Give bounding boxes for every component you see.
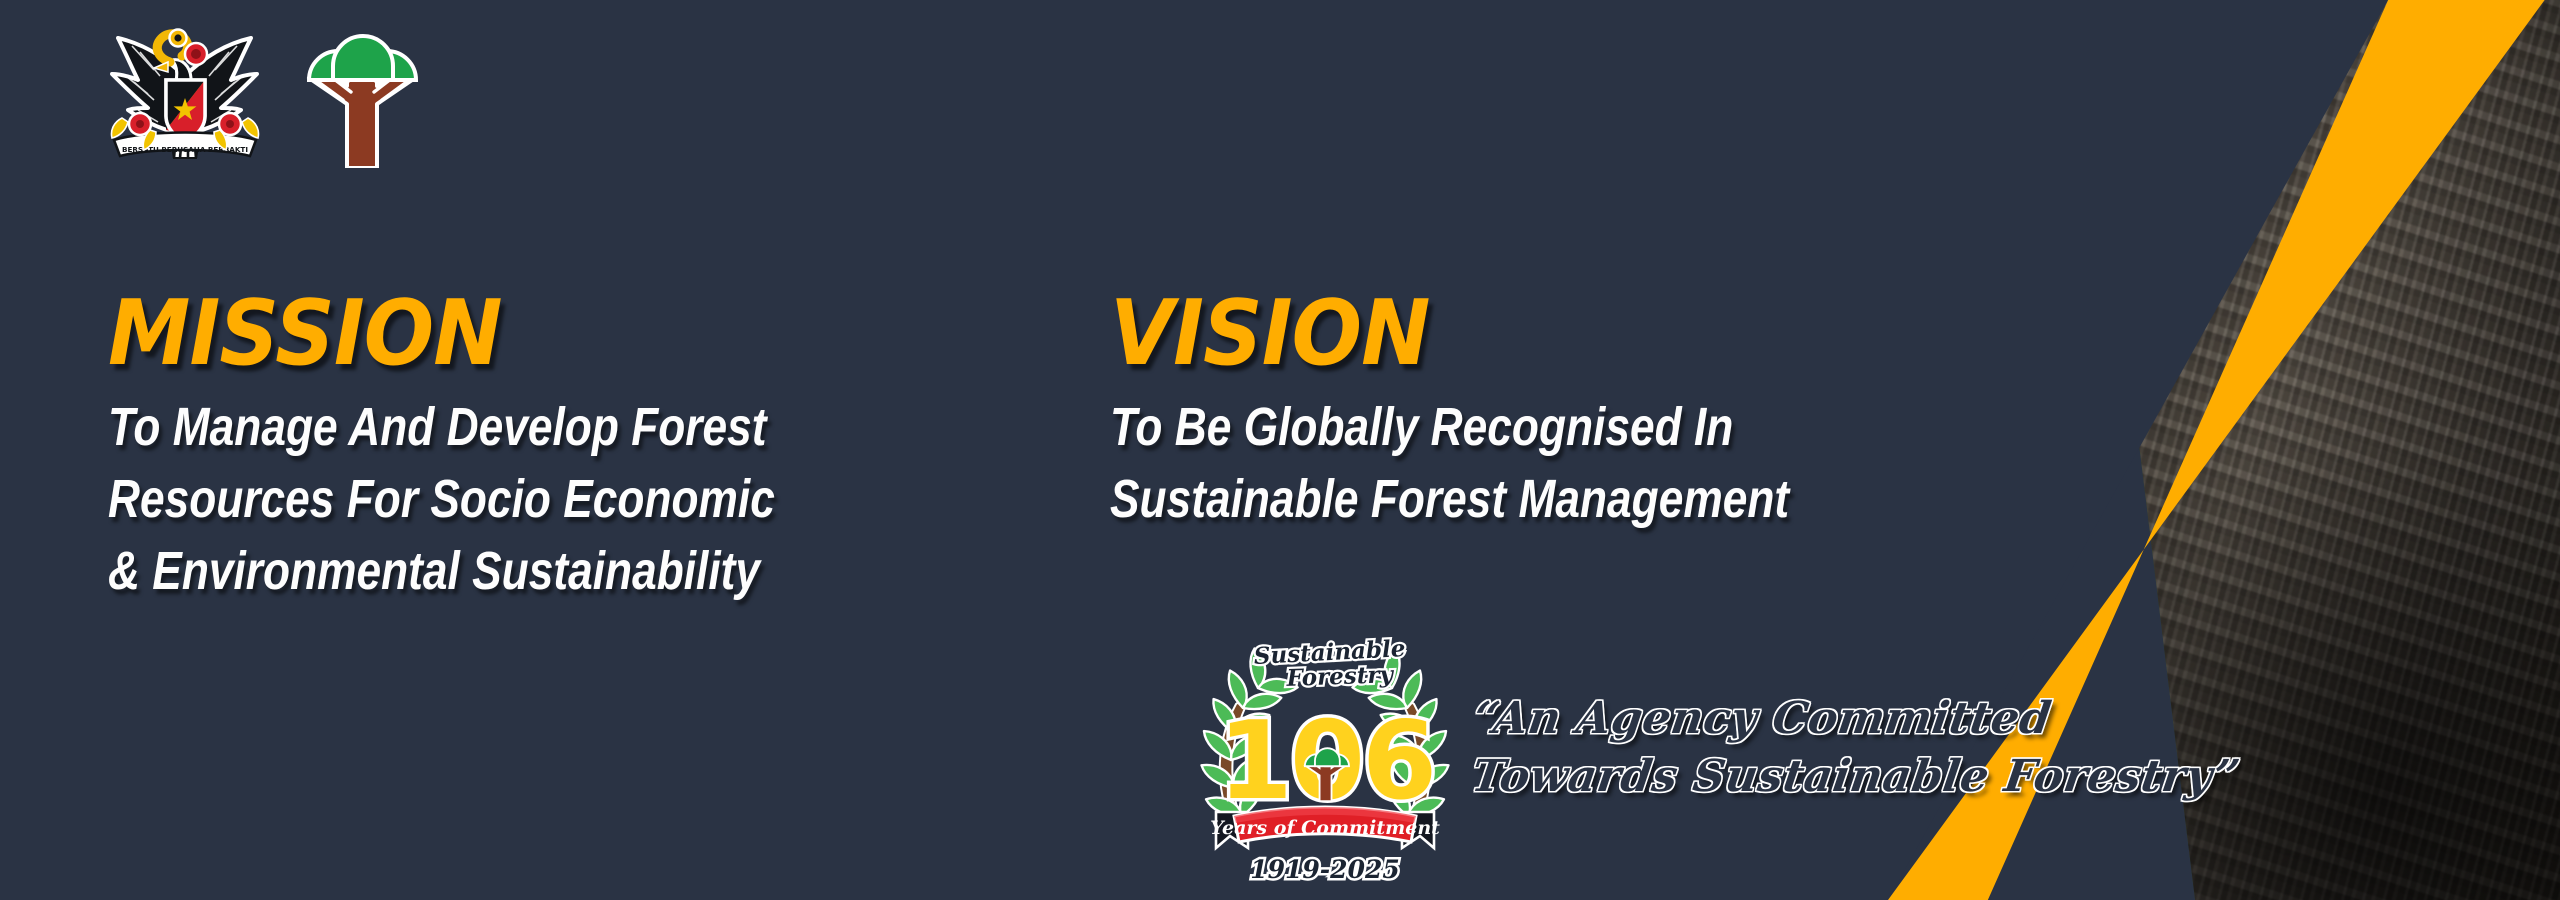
tagline-line-1: “An Agency Committed (1470, 690, 2118, 748)
forest-department-tree-logo-icon (295, 18, 430, 168)
mission-line-3: & Environmental Sustainability (108, 536, 846, 608)
anniversary-emblem-icon: Sustainable Forestry 106 Years of Commit… (1190, 620, 1460, 890)
sarawak-coat-of-arms-icon: BERSATU BERUSAHA BERBAKTI (92, 18, 277, 168)
mission-heading: MISSION (108, 290, 936, 378)
coat-of-arms-motto: BERSATU BERUSAHA BERBAKTI (122, 145, 248, 154)
mission-line-1: To Manage And Develop Forest (108, 392, 846, 464)
vision-line-1: To Be Globally Recognised In (1110, 392, 1897, 464)
mission-block: MISSION To Manage And Develop Forest Res… (108, 290, 1008, 608)
vision-line-2: Sustainable Forest Management (1110, 464, 1897, 536)
tagline-line-2: Towards Sustainable Forestry” (1462, 748, 2110, 806)
logo-row: BERSATU BERUSAHA BERBAKTI (92, 18, 430, 168)
vision-block: VISION To Be Globally Recognised In Sust… (1110, 290, 2070, 536)
emblem-years: 1919-2025 (1250, 855, 1400, 884)
mission-line-2: Resources For Socio Economic (108, 464, 846, 536)
emblem-script-line2: Forestry (1285, 661, 1395, 692)
vision-heading: VISION (1110, 290, 1993, 378)
anniversary-emblem: Sustainable Forestry 106 Years of Commit… (1190, 620, 1460, 890)
emblem-ribbon-text: Years of Commitment (1210, 817, 1440, 839)
mission-vision-banner: BERSATU BERUSAHA BERBAKTI (0, 0, 2560, 900)
tagline: “An Agency Committed Towards Sustainable… (1462, 690, 2118, 806)
